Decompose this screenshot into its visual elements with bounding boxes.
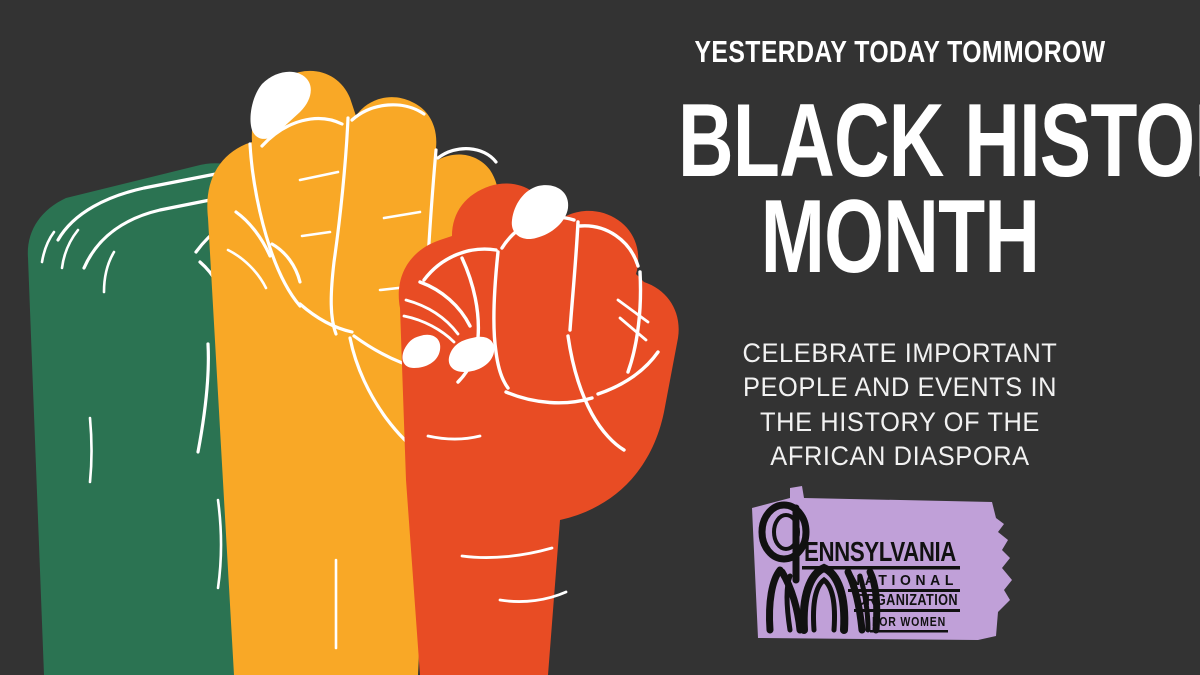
page-title-line-1: BLACK HISTORY xyxy=(678,96,1122,188)
description-line-4: AFRICAN DIASPORA xyxy=(612,439,1188,473)
description-text: CELEBRATE IMPORTANT PEOPLE AND EVENTS IN… xyxy=(612,336,1188,474)
tagline: YESTERDAY TODAY TOMMOROW xyxy=(660,34,1140,70)
three-fists-illustration xyxy=(0,0,700,675)
logo-rule-1 xyxy=(802,566,960,570)
description-line-3: THE HISTORY OF THE xyxy=(612,405,1188,439)
logo-line-pennsylvania: ENNSYLVANIA xyxy=(804,536,956,567)
description-line-1: CELEBRATE IMPORTANT xyxy=(612,336,1188,370)
logo-rule-4 xyxy=(870,630,948,633)
logo-line-for-women: FOR WOMEN xyxy=(872,614,946,629)
poster-text-column: YESTERDAY TODAY TOMMOROW BLACK HISTORY M… xyxy=(600,0,1200,675)
description-line-2: PEOPLE AND EVENTS IN xyxy=(612,370,1188,404)
black-history-month-poster: YESTERDAY TODAY TOMMOROW BLACK HISTORY M… xyxy=(0,0,1200,675)
page-title-line-2: MONTH xyxy=(678,192,1122,284)
logo-line-organization: ORGANIZATION xyxy=(856,592,958,609)
pennsylvania-now-logo: ENNSYLVANIA NATIONAL ORGANIZATION FOR WO… xyxy=(746,484,1018,644)
logo-line-national: NATIONAL xyxy=(850,572,958,589)
logo-rule-3 xyxy=(854,609,960,612)
